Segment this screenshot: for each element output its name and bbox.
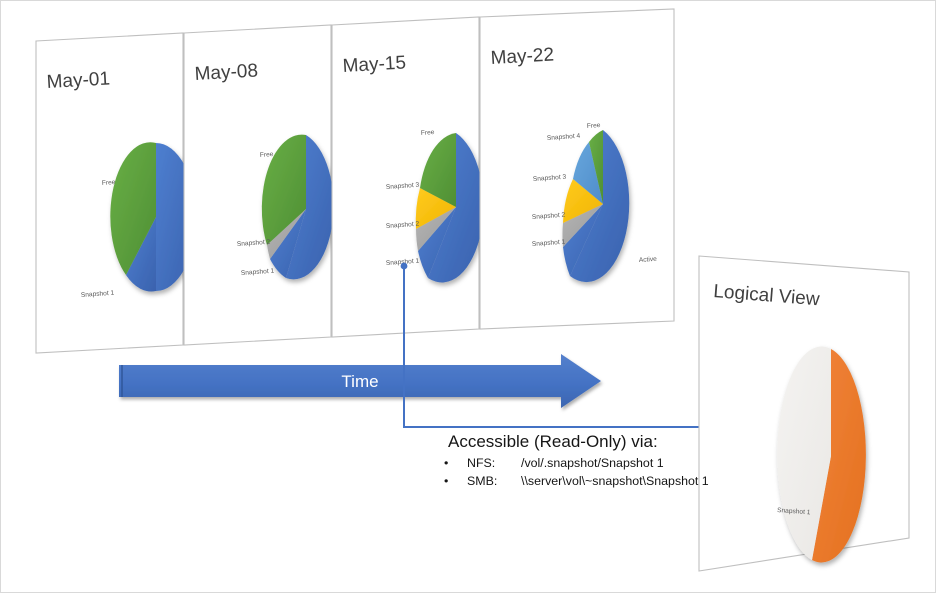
pie-may-01 — [110, 142, 196, 291]
snapshot-timeline-diagram: May-01 Free Active Snapshot 1 May-08 — [1, 1, 936, 593]
pie-label-may-15-free: Free — [421, 129, 435, 137]
callout-block: Accessible (Read-Only) via: • NFS: /vol/… — [444, 432, 709, 488]
pie-label-may-01-free: Free — [102, 179, 116, 187]
callout-protocol-nfs: NFS: — [467, 456, 495, 470]
panel-may-22[interactable]: May-22 Free Snapshot 4 Snapshot 3 Snapsh… — [480, 9, 674, 329]
pie-label-may-22-active: Active — [639, 256, 658, 264]
callout-path-nfs: /vol/.snapshot/Snapshot 1 — [521, 456, 664, 470]
panel-may-15-title: May-15 — [342, 52, 406, 77]
callout-bullet-icon-0: • — [444, 456, 448, 470]
diagram-canvas: May-01 Free Active Snapshot 1 May-08 — [0, 0, 936, 593]
pie-label-may-08-free: Free — [260, 151, 274, 159]
callout-bullet-icon-1: • — [444, 474, 448, 488]
panel-may-22-title: May-22 — [490, 44, 554, 69]
pie-logical-view — [777, 347, 866, 563]
panel-may-01-title: May-01 — [46, 68, 110, 93]
callout-protocol-smb: SMB: — [467, 474, 497, 488]
time-arrow-label: Time — [341, 372, 378, 391]
panel-may-08-title: May-08 — [194, 60, 258, 85]
pie-label-may-22-free: Free — [587, 122, 601, 130]
callout-path-smb: \\server\vol\~snapshot\Snapshot 1 — [521, 474, 709, 488]
callout-heading: Accessible (Read-Only) via: — [448, 432, 658, 451]
panel-logical-view[interactable]: Logical View Snapshot 1 — [699, 256, 909, 571]
